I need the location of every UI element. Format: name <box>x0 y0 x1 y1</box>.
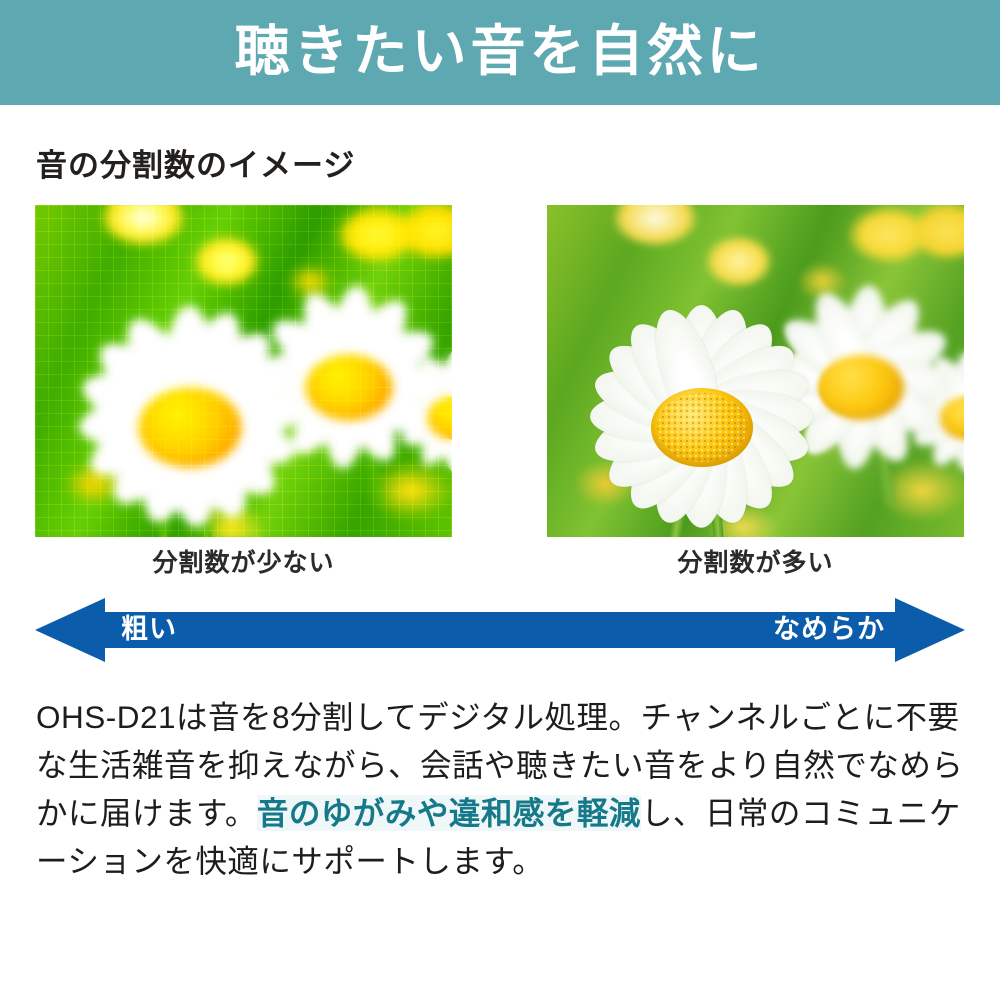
body-text-emphasis: 音のゆがみや違和感を軽減 <box>257 795 641 831</box>
comparison-column-right: 分割数が多い <box>547 205 964 576</box>
daisy-photo-pixelated <box>35 205 452 537</box>
daisy-flower-main <box>568 318 836 537</box>
scale-label-coarse: 粗い <box>121 616 177 643</box>
section-title: 音の分割数のイメージ <box>36 150 1000 181</box>
scale-label-smooth: なめらか <box>773 616 885 643</box>
page-title: 聴きたい音を自然に <box>234 24 765 79</box>
daisy-center <box>139 388 241 467</box>
coarse-to-smooth-scale: 粗い なめらか <box>35 594 965 666</box>
header-banner: 聴きたい音を自然に <box>0 0 1000 105</box>
comparison-row: 分割数が少ない <box>0 205 1000 576</box>
daisy-photo-smooth <box>547 205 964 537</box>
caption-right: 分割数が多い <box>547 551 964 576</box>
body-paragraph: OHS-D21は音を8分割してデジタル処理。チャンネルごとに不要な生活雑音を抑え… <box>36 694 964 886</box>
daisy-center <box>651 388 753 467</box>
daisy-flower-main <box>56 318 324 537</box>
caption-left: 分割数が少ない <box>35 551 452 576</box>
comparison-column-left: 分割数が少ない <box>35 205 452 576</box>
